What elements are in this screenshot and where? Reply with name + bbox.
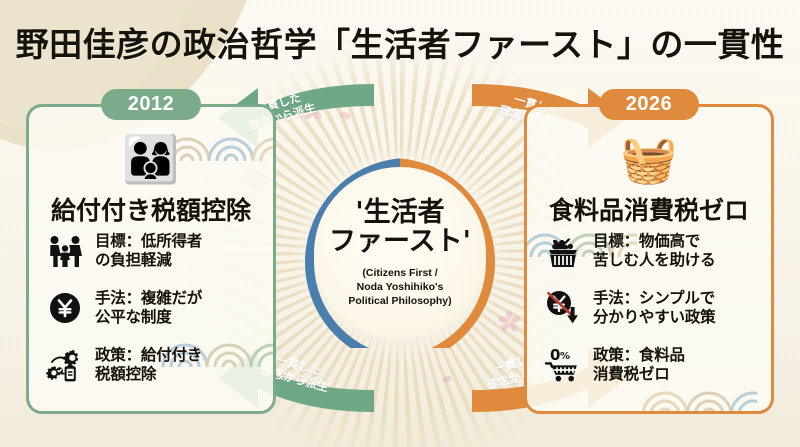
bullet-line1: 目標：物価高で (593, 232, 700, 250)
page-title: 野田佳彦の政治哲学「生活者ファースト」の一貫性 (0, 18, 800, 66)
bullet-text: 目標：物価高で 苦しむ人を助ける (593, 231, 715, 270)
svg-text:%: % (560, 351, 570, 362)
centre-subtitle-line2: Noda Yoshihiko's (348, 280, 451, 294)
bullet-line2: 消費税ゼロ (593, 365, 670, 383)
family-illustration: 👨‍👩‍👦 (29, 133, 273, 185)
bullet-line1: 政策：給付付き (95, 346, 202, 364)
family-icon (45, 231, 85, 271)
year-badge-2026: 2026 (599, 89, 699, 120)
card-2026-bullets: 目標：物価高で 苦しむ人を助ける (543, 231, 761, 402)
bullet-item: 目標：物価高で 苦しむ人を助ける (543, 231, 761, 271)
card-2026[interactable]: 🧺 食料品消費税ゼロ 目標：物価高で 苦しむ人を助ける (524, 104, 774, 414)
yen-down-icon (543, 288, 583, 328)
card-2012-title: 給付付き税額控除 (29, 191, 273, 227)
centre-title-line2: ファースト' (329, 227, 471, 257)
centre-title-line1: '生活者 (355, 198, 444, 228)
bullet-item: 政策：給付付き 税額控除 (45, 345, 263, 385)
centre-philosophy-circle[interactable]: '生活者 ファースト' (Citizens First / Noda Yoshi… (305, 158, 495, 348)
bullet-item: 目標：低所得者 の負担軽減 (45, 231, 263, 271)
centre-subtitle-line3: Political Philosophy) (348, 294, 451, 308)
bullet-text: 手法：複雑だが 公平な制度 (95, 288, 202, 327)
bullet-line2: の負担軽減 (95, 251, 172, 269)
sakura-petal-icon (497, 310, 521, 334)
bullet-text: 政策：給付付き 税額控除 (95, 345, 202, 384)
bullet-line2: 分かりやすい政策 (593, 308, 715, 326)
centre-subtitle-line1: (Citizens First / (348, 266, 451, 280)
gears-clipboard-icon (45, 345, 85, 385)
bullet-item: 0 % 政策：食料品 消費税ゼロ (543, 345, 761, 385)
card-2012[interactable]: 👨‍👩‍👦 給付付き税額控除 目標：低所得者 の負担軽減 (26, 104, 276, 414)
year-badge-2012: 2012 (101, 89, 201, 120)
card-2012-bullets: 目標：低所得者 の負担軽減 手法：複雑だが 公平な制度 (45, 231, 263, 402)
svg-text:0: 0 (550, 347, 560, 364)
bullet-item: 手法：複雑だが 公平な制度 (45, 288, 263, 328)
card-2026-title: 食料品消費税ゼロ (527, 191, 771, 227)
sakura-petal-icon (440, 372, 454, 386)
grocery-basket-icon (543, 231, 583, 271)
bullet-text: 手法：シンプルで 分かりやすい政策 (593, 288, 715, 327)
bullet-line1: 政策：食料品 (593, 346, 685, 364)
centre-subtitle: (Citizens First / Noda Yoshihiko's Polit… (348, 266, 451, 308)
grocery-basket-illustration: 🧺 (527, 133, 771, 185)
infographic-canvas: 野田佳彦の政治哲学「生活者ファースト」の一貫性 一貫した 理念から派生 一貫した… (0, 0, 800, 447)
centre-disc: '生活者 ファースト' (Citizens First / Noda Yoshi… (314, 167, 486, 339)
bullet-item: 手法：シンプルで 分かりやすい政策 (543, 288, 761, 328)
bullet-line1: 手法：複雑だが (95, 289, 202, 307)
yen-coin-icon (45, 288, 85, 328)
bullet-line1: 手法：シンプルで (593, 289, 715, 307)
bullet-line1: 目標：低所得者 (95, 232, 202, 250)
bullet-text: 目標：低所得者 の負担軽減 (95, 231, 202, 270)
bullet-text: 政策：食料品 消費税ゼロ (593, 345, 685, 384)
bullet-line2: 公平な制度 (95, 308, 172, 326)
bullet-line2: 税額控除 (95, 365, 156, 383)
cart-zero-percent-icon: 0 % (543, 345, 583, 385)
bullet-line2: 苦しむ人を助ける (593, 251, 715, 269)
